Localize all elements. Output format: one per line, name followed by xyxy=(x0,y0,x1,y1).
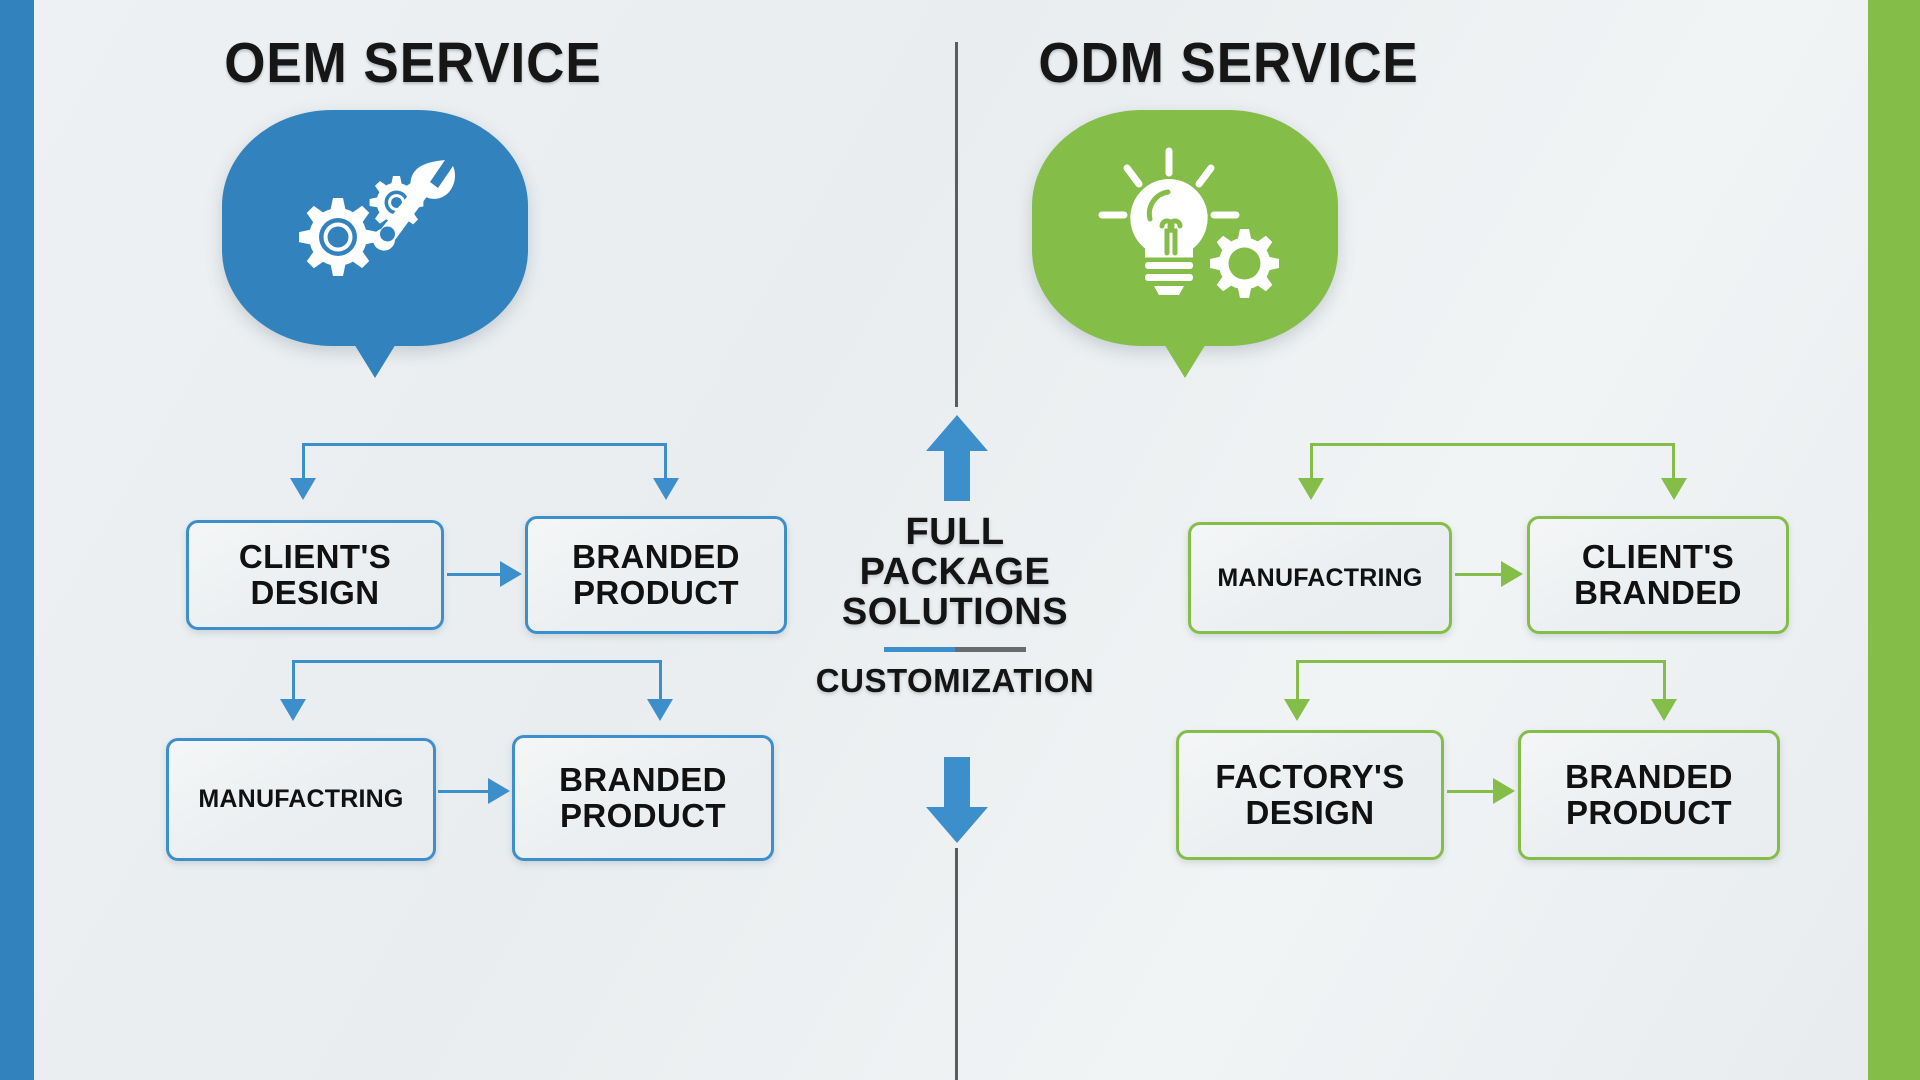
right-accent-bar xyxy=(1868,0,1920,1080)
center-divider-line-bottom xyxy=(955,848,958,1080)
odm-row2-link-line xyxy=(1447,790,1495,793)
oem-row2-arrow-right xyxy=(647,699,673,721)
left-accent-bar xyxy=(0,0,34,1080)
odm-icon-bubble xyxy=(1032,110,1338,346)
lightbulb-gear-icon xyxy=(1080,143,1290,313)
center-message-block: FULL PACKAGE SOLUTIONS CUSTOMIZATION xyxy=(660,513,1250,700)
box-label: CLIENT'S DESIGN xyxy=(189,539,441,610)
center-rule-gray-half xyxy=(955,647,1026,652)
box-label: CLIENT'S BRANDED xyxy=(1530,539,1786,610)
box-label: MANUFACTRING xyxy=(192,786,409,813)
odm-row2-arrow-right xyxy=(1651,699,1677,721)
bubble-tail xyxy=(1158,334,1212,378)
oem-row1-arrow-right xyxy=(653,478,679,500)
oem-row1-bracket-left-stem xyxy=(302,443,305,481)
oem-row1-link-line xyxy=(447,573,502,576)
center-rule xyxy=(884,647,1026,652)
oem-row1-bracket-top xyxy=(302,443,667,446)
odm-row2-bracket-top xyxy=(1296,660,1666,663)
oem-box-branded-product-2[interactable]: BRANDED PRODUCT xyxy=(512,735,774,861)
oem-box-clients-design[interactable]: CLIENT'S DESIGN xyxy=(186,520,444,630)
center-subline: CUSTOMIZATION xyxy=(660,662,1250,700)
odm-section-title: ODM SERVICE xyxy=(1038,30,1418,96)
odm-row2-arrow-left xyxy=(1284,699,1310,721)
odm-row1-bracket-top xyxy=(1310,443,1675,446)
gears-wrench-icon xyxy=(275,148,475,308)
odm-row1-bracket-left-stem xyxy=(1310,443,1313,481)
odm-row1-arrow-right xyxy=(1661,478,1687,500)
oem-row2-bracket-top xyxy=(292,660,662,663)
oem-row1-arrow-left xyxy=(290,478,316,500)
odm-row1-link-arrow xyxy=(1501,561,1523,587)
odm-row1-arrow-left xyxy=(1298,478,1324,500)
odm-box-branded-product[interactable]: BRANDED PRODUCT xyxy=(1518,730,1780,860)
oem-row2-arrow-left xyxy=(280,699,306,721)
odm-row1-bracket-right-stem xyxy=(1672,443,1675,481)
odm-row1-link-line xyxy=(1455,573,1503,576)
center-rule-blue-half xyxy=(884,647,955,652)
oem-box-manufactring[interactable]: MANUFACTRING xyxy=(166,738,436,861)
odm-box-clients-branded[interactable]: CLIENT'S BRANDED xyxy=(1527,516,1789,634)
odm-row2-bracket-right-stem xyxy=(1663,660,1666,702)
arrow-down-icon xyxy=(924,755,990,845)
infographic-canvas: OEM SERVICE ODM SERVICE xyxy=(0,0,1920,1080)
oem-row2-bracket-left-stem xyxy=(292,660,295,702)
odm-box-factorys-design[interactable]: FACTORY'S DESIGN xyxy=(1176,730,1444,860)
box-label: BRANDED PRODUCT xyxy=(515,762,771,833)
bubble-tail xyxy=(348,334,402,378)
box-label: BRANDED PRODUCT xyxy=(1521,759,1777,830)
center-divider-line-top xyxy=(955,42,958,407)
oem-row2-link-arrow xyxy=(488,778,510,804)
center-headline: FULL PACKAGE SOLUTIONS xyxy=(660,513,1250,633)
oem-row2-link-line xyxy=(438,790,490,793)
oem-row1-bracket-right-stem xyxy=(664,443,667,481)
oem-icon-bubble xyxy=(222,110,528,346)
arrow-up-icon xyxy=(924,413,990,503)
oem-row1-link-arrow xyxy=(500,561,522,587)
box-label: FACTORY'S DESIGN xyxy=(1179,759,1441,830)
odm-row2-bracket-left-stem xyxy=(1296,660,1299,702)
odm-row2-link-arrow xyxy=(1493,778,1515,804)
oem-section-title: OEM SERVICE xyxy=(224,30,601,96)
